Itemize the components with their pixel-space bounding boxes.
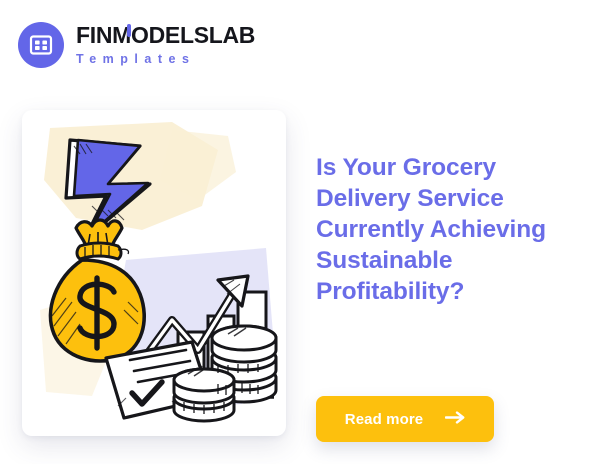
pin-drop-icon xyxy=(127,24,131,37)
read-more-label: Read more xyxy=(345,411,423,428)
brand-text: FINMODELSLAB Templates xyxy=(76,24,255,66)
illustration-card xyxy=(22,110,286,436)
brand-name-label: FINMODELSLAB xyxy=(76,22,255,48)
promo-banner: FINMODELSLAB Templates xyxy=(0,0,600,464)
grid-squares-icon xyxy=(18,22,64,68)
brand-name: FINMODELSLAB xyxy=(76,24,255,47)
brand-logo[interactable]: FINMODELSLAB Templates xyxy=(18,22,255,68)
finance-illustration xyxy=(22,110,286,436)
headline: Is Your Grocery Delivery Service Current… xyxy=(316,152,584,307)
read-more-button[interactable]: Read more xyxy=(316,396,494,442)
brand-subtitle: Templates xyxy=(76,53,255,66)
money-bag-icon xyxy=(50,220,144,361)
arrow-right-icon xyxy=(445,411,465,427)
